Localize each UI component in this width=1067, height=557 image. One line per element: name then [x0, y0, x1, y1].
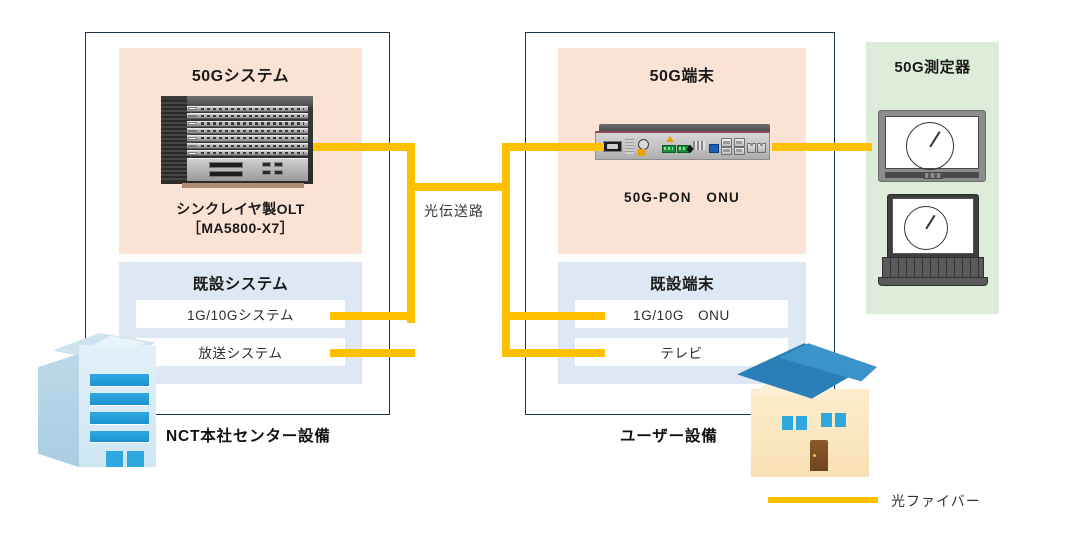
house-icon — [737, 328, 877, 480]
office-building-icon — [38, 333, 161, 479]
olt-caption-line1: シンクレイヤ製OLT — [119, 200, 362, 219]
fiber-1g10g-left — [330, 312, 415, 320]
onu-caption: 50G-PON ONU — [558, 186, 806, 206]
fiber-line-swatch — [768, 497, 878, 503]
fiber-50g-vertical-left — [407, 143, 415, 323]
user-facility-caption: ユーザー設備 — [620, 424, 718, 446]
center-facility-caption: NCT本社センター設備 — [166, 424, 331, 446]
fiber-50g-onu-in — [502, 143, 604, 151]
fiber-broadcast-left — [330, 349, 415, 357]
fiber-broadcast-right — [502, 349, 605, 357]
fiber-broadcast-corner — [407, 349, 415, 357]
fiber-50g-vertical-right — [502, 143, 510, 357]
center-legacy-item-1-label: 放送システム — [198, 342, 282, 362]
fiber-1g10g-right — [502, 312, 605, 320]
center-legacy-item-1[interactable]: 放送システム — [136, 338, 345, 366]
user-50g-panel-title: 50G端末 — [558, 62, 806, 86]
network-diagram-canvas: 50Gシステム シンクレイヤ製OLT ［MA5800-X7］ — [0, 0, 1067, 557]
center-legacy-item-0[interactable]: 1G/10Gシステム — [136, 300, 345, 328]
user-legacy-item-0-label: 1G/10G ONU — [633, 304, 730, 324]
center-legacy-panel-title: 既設システム — [119, 272, 362, 294]
meter-panel: 50G測定器 — [866, 42, 999, 314]
olt-chassis-icon — [161, 96, 313, 184]
crt-monitor-tester-icon — [878, 110, 986, 182]
meter-panel-title: 50G測定器 — [866, 56, 999, 77]
fiber-trunk-upper — [407, 183, 510, 191]
legend-item-0-label: 光ファイバー — [891, 491, 981, 511]
transmission-path-label: 光伝送路 — [424, 201, 484, 221]
user-legacy-item-0[interactable]: 1G/10G ONU — [575, 300, 788, 328]
user-legacy-item-1-label: テレビ — [660, 342, 702, 362]
user-50g-panel: 50G端末 50G-PON — [558, 48, 806, 254]
fiber-50g-olt-out — [313, 143, 415, 151]
laptop-tester-icon — [878, 194, 988, 286]
center-legacy-item-0-label: 1G/10Gシステム — [187, 304, 294, 324]
center-50g-panel: 50Gシステム シンクレイヤ製OLT ［MA5800-X7］ — [119, 48, 362, 254]
fiber-onu-to-meter — [772, 143, 872, 151]
olt-caption-line2: ［MA5800-X7］ — [119, 219, 362, 238]
onu-device-icon — [595, 124, 770, 160]
center-50g-panel-title: 50Gシステム — [119, 62, 362, 86]
user-legacy-panel-title: 既設端末 — [558, 272, 806, 294]
